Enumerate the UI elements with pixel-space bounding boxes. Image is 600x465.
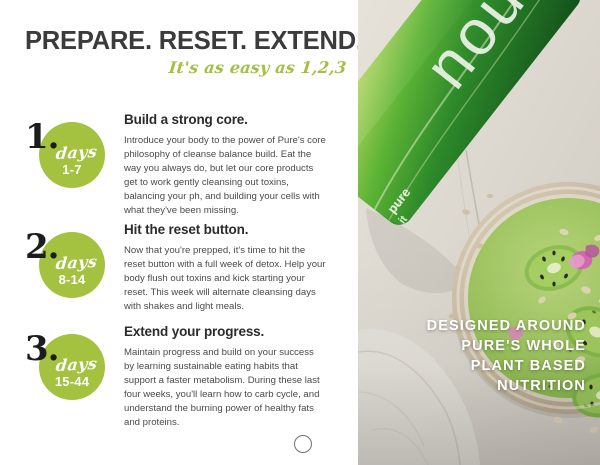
step-body: Hit the reset button. Now that you're pr… [124, 222, 326, 314]
step-number: 2. [25, 230, 59, 264]
step-day-range: 8-14 [39, 272, 105, 287]
step-description: Maintain progress and build on your succ… [124, 346, 326, 431]
page-subtitle: It's as easy as 1,2,3 [168, 58, 347, 77]
step-heading: Extend your progress. [124, 324, 326, 339]
step-days-label: days [55, 354, 98, 375]
caption-line: DESIGNED AROUND [376, 316, 586, 336]
step-badge-circle: 2. days 8-14 [39, 232, 105, 298]
caption-line: NUTRITION [376, 376, 586, 396]
slide-canvas: PREPARE. RESET. EXTEND. It's as easy as … [0, 0, 600, 465]
step-number: 3. [25, 332, 59, 366]
step-body: Extend your progress. Maintain progress … [124, 324, 326, 431]
step-badge-circle: 1. days 1-7 [39, 122, 105, 188]
step-body: Build a strong core. Introduce your body… [124, 112, 326, 219]
step-day-range: 1-7 [39, 162, 105, 177]
step-days-label: days [55, 252, 98, 273]
caption-line: PLANT BASED [376, 356, 586, 376]
step-heading: Build a strong core. [124, 112, 326, 127]
page-indicator-dot[interactable] [294, 435, 312, 453]
step-heading: Hit the reset button. [124, 222, 326, 237]
caption-line: PURE'S WHOLE [376, 336, 586, 356]
step-day-range: 15-44 [39, 374, 105, 389]
photo-caption: DESIGNED AROUND PURE'S WHOLE PLANT BASED… [376, 316, 586, 396]
step-description: Introduce your body to the power of Pure… [124, 134, 326, 219]
page-title: PREPARE. RESET. EXTEND. [25, 27, 363, 56]
product-photo: nou pure it [358, 0, 600, 465]
step-number: 1. [25, 120, 59, 154]
step-description: Now that you're prepped, it's time to hi… [124, 244, 326, 314]
step-days-label: days [55, 142, 98, 163]
content-panel: PREPARE. RESET. EXTEND. It's as easy as … [0, 0, 358, 465]
step-badge-circle: 3. days 15-44 [39, 334, 105, 400]
